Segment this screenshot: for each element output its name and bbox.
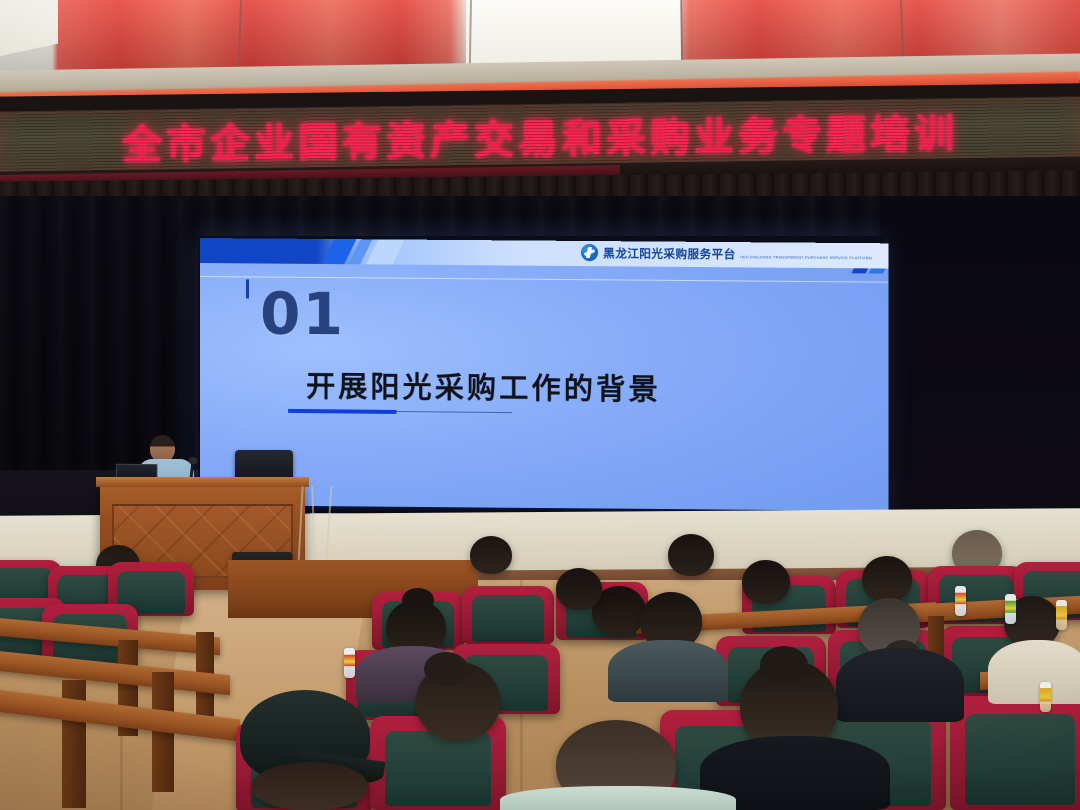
attendee-shoulders: [988, 640, 1080, 704]
water-bottle[interactable]: [1056, 600, 1067, 630]
platform-brand: 黑龙江阳光采购服务平台 HEILONGJIANG TRANSPARENT PUR…: [581, 244, 872, 263]
section-number: 01: [260, 285, 345, 344]
water-bottle[interactable]: [1040, 682, 1051, 712]
section-number-tick: [246, 279, 249, 298]
platform-logo-icon: [581, 244, 598, 261]
ceiling-panel-white-left: [0, 0, 58, 56]
water-bottle[interactable]: [1005, 594, 1016, 624]
auditorium-photo: 全市企业国有资产交易和采购业务专题培训 黑龙江阳光采购服务平台 HEILONGJ…: [0, 0, 1080, 810]
header-accent-shape-3: [366, 239, 404, 264]
projection-screen: 黑龙江阳光采购服务平台 HEILONGJIANG TRANSPARENT PUR…: [198, 236, 884, 515]
attendee-shoulders: [836, 648, 964, 722]
attendee-head: [252, 762, 368, 810]
attendee-hair-bun: [760, 646, 808, 684]
seat[interactable]: [462, 586, 554, 644]
attendee-shoulders: [500, 786, 736, 810]
attendee-shoulders: [608, 640, 728, 702]
attendee-hair-bun: [424, 652, 468, 686]
slide-title-rule-thin: [396, 411, 512, 414]
ceiling-seam-1: [237, 0, 242, 72]
platform-brand-text: 黑龙江阳光采购服务平台 HEILONGJIANG TRANSPARENT PUR…: [603, 245, 872, 263]
slide-title-rule-thick: [288, 409, 396, 414]
water-bottle[interactable]: [955, 586, 966, 616]
attendee-head: [742, 560, 790, 604]
attendee-head: [470, 536, 512, 574]
header-dash-marks: [853, 268, 885, 273]
attendee-head: [862, 556, 912, 602]
water-bottle[interactable]: [344, 648, 355, 678]
attendee-head: [556, 568, 602, 610]
seat[interactable]: [950, 696, 1080, 810]
platform-name-cn: 黑龙江阳光采购服务平台: [603, 246, 736, 261]
presenter-head: [150, 435, 175, 462]
platform-name-en: HEILONGJIANG TRANSPARENT PURCHASE SERVIC…: [740, 255, 872, 260]
slide-title: 开展阳光采购工作的背景: [306, 363, 661, 409]
attendee-hair-bun: [402, 588, 434, 612]
podium-countertop: [96, 477, 309, 487]
header-dash-1: [851, 268, 868, 273]
header-dash-2: [869, 268, 886, 273]
attendee-head: [668, 534, 714, 576]
